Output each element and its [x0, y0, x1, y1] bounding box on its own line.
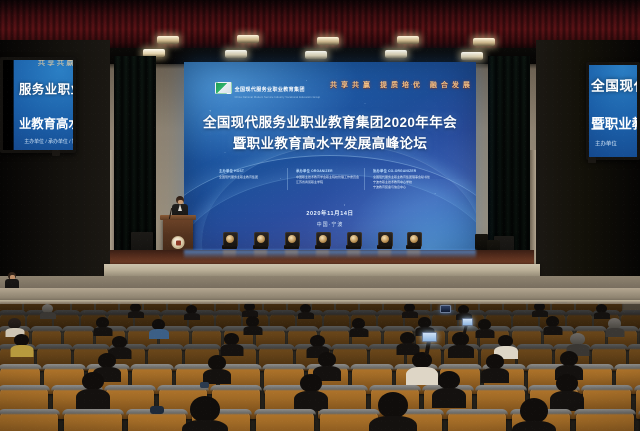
auditorium-seat: [64, 411, 122, 431]
truss-lamp-icon: [385, 50, 407, 58]
slide-event-place: 中国·宁波: [184, 221, 476, 228]
slide-logo-text-en: China National Modern Service Industry V…: [235, 96, 321, 99]
podium-emblem: [172, 236, 185, 249]
right-display-title-line1: 全国现代服务业职业教: [591, 80, 640, 98]
attendee-shoulders: [402, 311, 418, 318]
audience-member: [152, 319, 165, 333]
audience-member: [404, 303, 415, 315]
audience-member: [438, 371, 460, 395]
spotlight-base: [346, 245, 361, 249]
attendee-head: [438, 371, 460, 389]
spotlight-lens-icon: [257, 235, 265, 243]
audience-member: [96, 317, 109, 331]
organizer-heading: 主办单位 HOST: [219, 168, 283, 173]
audience-member: [300, 374, 322, 398]
attendee-shoulders: [149, 329, 169, 339]
audience-member: [318, 352, 336, 372]
auditorium-seat: [0, 411, 58, 431]
attendee-shoulders: [40, 312, 56, 319]
audience-member: [186, 305, 197, 317]
spotlight-lens-icon: [381, 235, 389, 243]
slide-main-title: 全国现代服务业职业教育集团2020年年会 暨职业教育高水平发展高峰论坛: [184, 113, 476, 155]
attendee-shoulders: [76, 389, 110, 409]
truss-lamp-icon: [157, 36, 179, 44]
spotlight-floor-reflection: [254, 250, 267, 258]
auditorium-seat: [256, 411, 314, 431]
audience-member: [8, 318, 21, 332]
audience-member: [130, 303, 141, 315]
truss-lamp-icon: [225, 50, 247, 58]
audience-member: [112, 336, 127, 353]
left-display-small-text: 主办单位 / 承办单位 / 协办单位: [24, 139, 76, 147]
attendee-shoulders: [10, 345, 33, 357]
organizer-line: 全国现代服务业职业教育集团理事会秘书处: [373, 175, 437, 180]
spotlight-lens-icon: [226, 235, 234, 243]
truss-lamp-icon: [461, 52, 483, 60]
audience-member-photographing: [412, 352, 432, 374]
spotlight-lens-icon: [319, 235, 327, 243]
left-display-title-line2: 业教育高水平发展高峰论坛: [19, 112, 76, 131]
left-display-title-line1: 服务业职业教育集团2020年年会: [19, 84, 76, 101]
slide-event-date: 2020年11月14日: [184, 209, 476, 217]
spotlight-floor-reflection: [378, 250, 391, 258]
spotlight-lens-icon: [288, 235, 296, 243]
attendee-head: [190, 396, 220, 422]
spotlight-floor-reflection: [316, 250, 329, 258]
attendee-shoulders: [432, 388, 466, 408]
audience-member: [458, 305, 469, 317]
attendee-shoulders: [182, 420, 228, 431]
attendee-shoulders: [349, 328, 368, 337]
truss-lamp-icon: [237, 35, 259, 43]
attendee-head: [560, 351, 578, 366]
truss-lamp-icon: [317, 37, 339, 45]
attendee-shoulders: [481, 368, 509, 383]
spotlight-base: [377, 245, 392, 249]
audience-member-foreground: [520, 398, 548, 431]
group-logo-mark-icon: [215, 82, 232, 94]
organizer-heading: 协办单位 CO-ORGANIZER: [373, 168, 437, 173]
audience-member-foreground: [378, 392, 408, 428]
podium-top-surface: [160, 215, 196, 220]
organizer-line: 全国现代服务业职业教育集团: [219, 175, 283, 180]
attendee-shoulders: [128, 311, 144, 318]
stage-spotlight: [222, 232, 237, 251]
audience-seating-area: [0, 288, 640, 431]
audience-member: [608, 318, 621, 332]
organizer-column-host: 主办单位 HOST 全国现代服务业职业教育集团: [219, 168, 287, 189]
organizer-line: 宁波教育装备与信息中心: [373, 185, 437, 190]
spotlight-floor-reflection: [223, 250, 236, 258]
spotlight-floor-reflection: [407, 250, 420, 258]
stage-spotlight: [315, 232, 330, 251]
audience-member: [478, 319, 491, 333]
auditorium-photo: 共享共赢 提质培优 融合发展 服务业职业教育集团2020年年会 业教育高水平发展…: [0, 0, 640, 431]
slide-title-line2: 暨职业教育高水平发展高峰论坛: [184, 134, 476, 155]
audience-member: [82, 372, 104, 396]
attendee-head: [486, 354, 504, 369]
truss-lamp-icon: [473, 38, 495, 46]
attendee-head: [318, 352, 336, 367]
right-display-small-text: 主办单位: [595, 142, 617, 151]
attendee-head: [378, 392, 408, 418]
audience-member: [246, 316, 259, 330]
stage-spotlight: [406, 232, 421, 251]
audience-member: [352, 318, 365, 332]
ceiling-light-truss: [105, 34, 535, 64]
spotlight-lens-icon: [410, 235, 418, 243]
attendee-shoulders: [369, 416, 417, 431]
attendee-shoulders: [543, 326, 562, 335]
stage-spotlight: [346, 232, 361, 251]
stage-spotlight: [253, 232, 268, 251]
slide-logo-text-cn: 全国现代服务业职业教育集团: [235, 87, 305, 93]
audience-member: [224, 333, 239, 350]
audience-member: [486, 354, 504, 374]
attendee-shoulders: [406, 367, 438, 385]
organizer-heading: 承办单位 ORGANIZER: [296, 168, 360, 173]
right-wall-camera-icon: [588, 157, 596, 163]
slide-title-line1: 全国现代服务业职业教育集团2020年年会: [184, 113, 476, 134]
attendee-head: [208, 355, 226, 370]
audience-member: [300, 304, 311, 316]
attendee-head: [520, 398, 548, 423]
audience-member: [42, 304, 53, 316]
organizer-column-organizer: 承办单位 ORGANIZER 中国职业技术教育学会职业院校管理工作委员会 江苏省…: [287, 168, 364, 189]
audience-member: [498, 335, 513, 352]
main-led-screen: 全国现代服务业职业教育集团 China National Modern Serv…: [184, 62, 476, 250]
seat-cup-object: [150, 406, 164, 414]
left-wall-camera-icon: [52, 150, 60, 156]
right-display-title-line2: 暨职业教育高水: [591, 111, 640, 132]
audience-member: [208, 355, 226, 375]
attendee-head: [412, 352, 432, 368]
audience-member: [596, 304, 607, 316]
audience-member: [546, 316, 559, 330]
truss-lamp-icon: [397, 36, 419, 44]
attendee-shoulders: [93, 327, 112, 336]
audience-member-foreground: [190, 396, 220, 431]
attendee-head: [300, 374, 322, 392]
audience-member: [560, 351, 578, 371]
attendee-shoulders: [605, 328, 624, 337]
spotlight-base: [406, 245, 421, 249]
audience-member: [570, 333, 585, 350]
attendee-head: [98, 353, 116, 368]
spotlight-base: [284, 245, 299, 249]
attendee-shoulders: [512, 421, 556, 431]
slide-organizer-columns: 主办单位 HOST 全国现代服务业职业教育集团 承办单位 ORGANIZER 中…: [219, 168, 441, 189]
attendee-phone-camera: [422, 332, 437, 342]
slide-tagline: 共享共赢 提质培优 融合发展: [330, 80, 474, 90]
audience-member-photographing: [452, 332, 469, 351]
left-display-slide: 共享共赢 提质培优 融合发展 服务业职业教育集团2020年年会 业教育高水平发展…: [14, 57, 76, 153]
stage-spotlight: [377, 232, 392, 251]
attendee-shoulders: [184, 313, 200, 320]
audience-member: [98, 353, 116, 373]
spotlight-base: [315, 245, 330, 249]
attendee-phone-camera: [462, 318, 473, 326]
attendee-shoulders: [475, 329, 494, 338]
spotlight-base: [253, 245, 268, 249]
auditorium-seat: [128, 411, 186, 431]
attendee-shoulders: [298, 312, 314, 319]
spotlight-floor-reflection: [285, 250, 298, 258]
audience-member: [14, 334, 29, 351]
spotlight-base: [222, 245, 237, 249]
auditorium-seat: [448, 411, 506, 431]
spotlight-floor-reflection: [347, 250, 360, 258]
attendee-head: [452, 332, 469, 346]
audience-member: [556, 374, 578, 398]
right-display-slide: 全国现代服务业职业教育集团 全国现代服务业职业教 暨职业教育高水 主办单位: [587, 62, 640, 160]
slide-organization-logo: 全国现代服务业职业教育集团 China National Modern Serv…: [215, 78, 321, 99]
attendee-head: [556, 374, 578, 392]
house-rail: [0, 300, 640, 304]
truss-lamp-icon: [305, 51, 327, 59]
attendee-shoulders: [294, 391, 328, 411]
stage-spotlight: [284, 232, 299, 251]
attendee-shoulders: [448, 345, 474, 358]
organizer-line: 中国职业技术教育学会职业院校管理工作委员会: [296, 175, 360, 180]
right-side-display: 全国现代服务业职业教育集团 全国现代服务业职业教 暨职业教育高水 主办单位: [586, 62, 640, 160]
auditorium-seat: [576, 411, 634, 431]
organizer-column-co-organizer: 协办单位 CO-ORGANIZER 全国现代服务业职业教育集团理事会秘书处 宁波…: [364, 168, 441, 189]
organizer-line: 江苏省商贸职业学院: [296, 180, 360, 185]
left-display-tagline: 共享共赢 提质培优 融合发展: [38, 57, 76, 68]
spotlight-lens-icon: [350, 235, 358, 243]
attendee-head: [82, 372, 104, 390]
left-side-display: 共享共赢 提质培优 融合发展 服务业职业教育集团2020年年会 业教育高水平发展…: [0, 57, 76, 153]
audience-member: [418, 317, 431, 331]
seat-cup-object: [200, 382, 209, 388]
audience-member: [310, 335, 325, 352]
attendee-shoulders: [550, 391, 584, 411]
audience-member: [400, 332, 415, 349]
attendee-shoulders: [243, 326, 262, 335]
attendee-phone-camera: [440, 305, 451, 313]
